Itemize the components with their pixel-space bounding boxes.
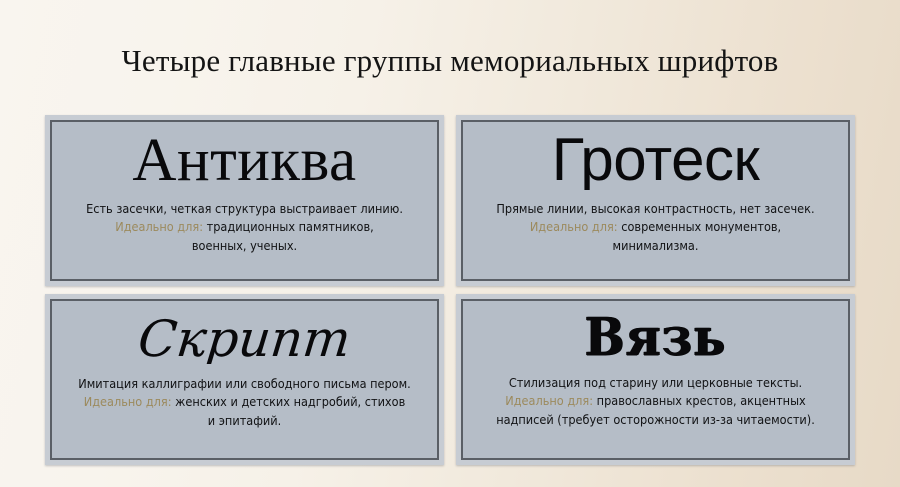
font-card-antikva-body: Антиква Есть засечки, четкая структура в… bbox=[50, 120, 439, 281]
font-card-script[interactable]: Скрипт Имитация каллиграфии или свободно… bbox=[45, 294, 444, 465]
font-card-vyaz[interactable]: Вязь Стилизация под старину или церковны… bbox=[456, 294, 855, 465]
ideal-for-value-vyaz-2: надписей (требует осторожности из-за чит… bbox=[473, 411, 838, 428]
font-sample-script: Скрипт bbox=[59, 314, 429, 364]
ideal-for-value-antikva-2: военных, ученых. bbox=[62, 237, 427, 254]
font-card-vyaz-ideal-line1: Идеально для: православных крестов, акце… bbox=[473, 392, 838, 409]
font-card-antikva-ideal-line1: Идеально для: традиционных памятников, bbox=[62, 218, 427, 235]
ideal-for-value-grotesk-2: минимализма. bbox=[473, 237, 838, 254]
font-card-grotesk-ideal-line1: Идеально для: современных монументов, bbox=[473, 218, 838, 235]
font-card-vyaz-description: Стилизация под старину или церковные тек… bbox=[473, 374, 838, 391]
font-card-script-description: Имитация каллиграфии или свободного пись… bbox=[62, 375, 427, 392]
font-card-grotesk-body: Гротеск Прямые линии, высокая контрастно… bbox=[461, 120, 850, 281]
font-card-antikva-description: Есть засечки, четкая структура выстраива… bbox=[62, 200, 427, 217]
slide-canvas: Четыре главные группы мемориальных шрифт… bbox=[0, 0, 900, 487]
font-card-script-ideal-line1: Идеально для: женских и детских надгроби… bbox=[62, 393, 427, 410]
ideal-for-value-script-2: и эпитафий. bbox=[62, 412, 427, 429]
ideal-for-label-script: Идеально для: bbox=[84, 394, 172, 409]
font-sample-antikva: Антиква bbox=[62, 130, 427, 191]
font-card-vyaz-body: Вязь Стилизация под старину или церковны… bbox=[461, 299, 850, 460]
font-sample-vyaz: Вязь bbox=[473, 312, 838, 364]
ideal-for-value-antikva-1: традиционных памятников, bbox=[207, 219, 374, 234]
ideal-for-value-script-1: женских и детских надгробий, стихов bbox=[175, 394, 405, 409]
ideal-for-label-grotesk: Идеально для: bbox=[530, 219, 618, 234]
font-card-grotesk-description: Прямые линии, высокая контрастность, нет… bbox=[473, 200, 838, 217]
font-card-grotesk[interactable]: Гротеск Прямые линии, высокая контрастно… bbox=[456, 115, 855, 286]
font-card-antikva[interactable]: Антиква Есть засечки, четкая структура в… bbox=[45, 115, 444, 286]
ideal-for-label-vyaz: Идеально для: bbox=[505, 393, 593, 408]
font-card-script-body: Скрипт Имитация каллиграфии или свободно… bbox=[50, 299, 439, 460]
ideal-for-label-antikva: Идеально для: bbox=[115, 219, 203, 234]
ideal-for-value-vyaz-1: православных крестов, акцентных bbox=[597, 393, 806, 408]
font-group-grid: Антиква Есть засечки, четкая структура в… bbox=[45, 115, 855, 465]
ideal-for-value-grotesk-1: современных монументов, bbox=[621, 219, 781, 234]
page-title: Четыре главные группы мемориальных шрифт… bbox=[0, 44, 900, 78]
font-sample-grotesk: Гротеск bbox=[473, 130, 838, 190]
